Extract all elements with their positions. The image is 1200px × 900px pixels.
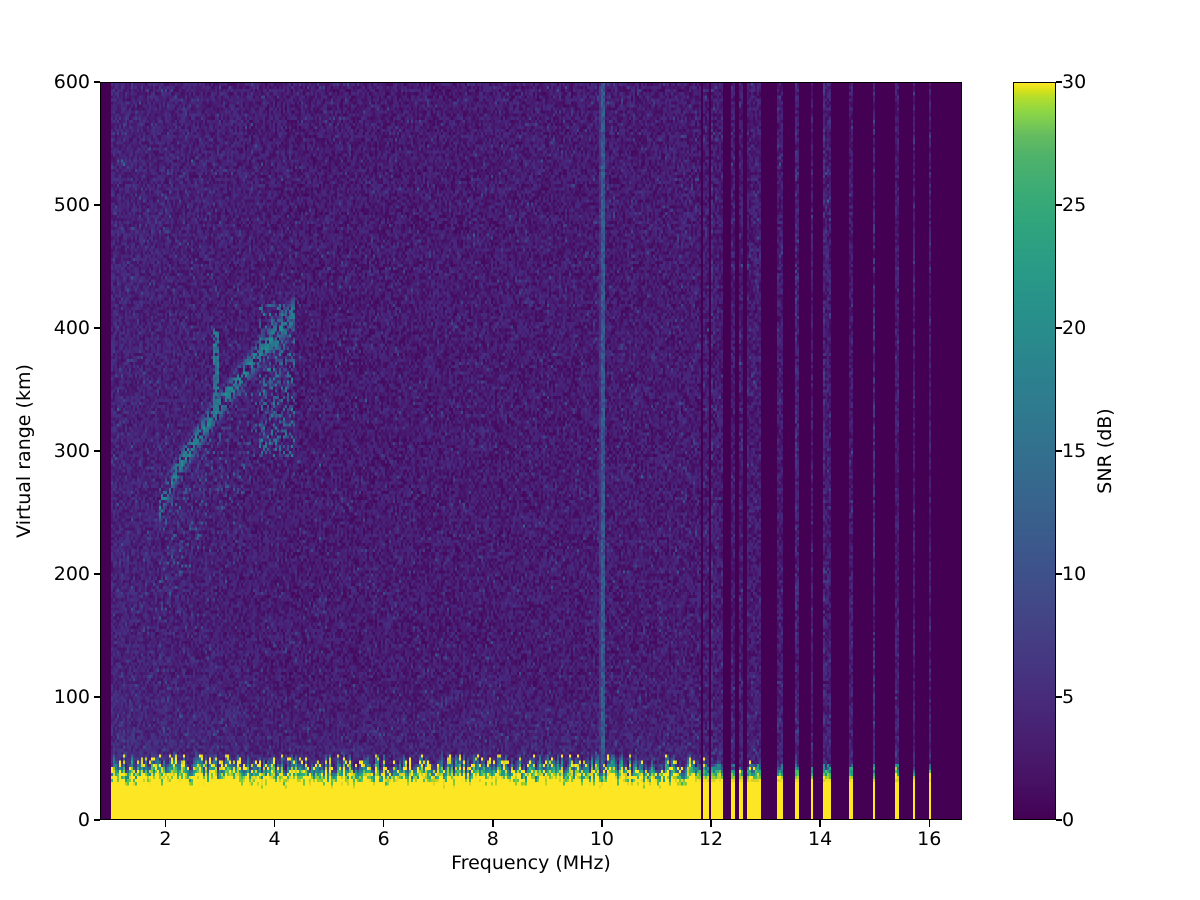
y-axis-tick-label: 200	[54, 563, 90, 585]
colorbar-tick-label: 25	[1062, 194, 1086, 216]
colorbar-tick-mark	[1056, 327, 1062, 328]
y-axis-tick-label: 500	[54, 194, 90, 216]
y-axis-tick-mark	[94, 204, 101, 205]
colorbar-tick-mark	[1056, 573, 1062, 574]
x-axis-tick-mark	[929, 820, 930, 827]
colorbar-tick-mark	[1056, 696, 1062, 697]
colorbar-tick-label: 30	[1062, 71, 1086, 93]
colorbar-tick-mark	[1056, 819, 1062, 820]
colorbar-tick-label: 10	[1062, 563, 1086, 585]
x-axis-tick-mark	[383, 820, 384, 827]
y-axis-label: Virtual range (km)	[13, 364, 35, 538]
colorbar-tick-label: 15	[1062, 440, 1086, 462]
colorbar-tick-mark	[1056, 450, 1062, 451]
y-axis-tick-mark	[94, 696, 101, 697]
ionogram-heatmap	[101, 83, 961, 819]
y-axis-tick-label: 300	[54, 440, 90, 462]
y-axis-tick-mark	[94, 819, 101, 820]
y-axis-tick-mark	[94, 81, 101, 82]
ionogram-canvas	[101, 83, 961, 819]
colorbar-tick-label: 20	[1062, 317, 1086, 339]
y-axis-tick-label: 0	[78, 809, 90, 831]
x-axis-tick-label: 16	[917, 828, 941, 850]
colorbar-tick-label: 0	[1062, 809, 1074, 831]
x-axis-label: Frequency (MHz)	[100, 852, 962, 874]
y-axis-tick-label: 600	[54, 71, 90, 93]
x-axis-tick-label: 8	[487, 828, 499, 850]
ionogram-plot-area	[100, 82, 962, 820]
y-axis-tick-label: 400	[54, 317, 90, 339]
colorbar-tick-label: 5	[1062, 686, 1074, 708]
x-axis-tick-mark	[492, 820, 493, 827]
colorbar-label: SNR (dB)	[1094, 408, 1116, 493]
x-axis-tick-label: 10	[590, 828, 614, 850]
colorbar-label-wrap: SNR (dB)	[1105, 82, 1107, 820]
colorbar-tick-mark	[1056, 81, 1062, 82]
y-axis-tick-mark	[94, 573, 101, 574]
x-axis-tick-label: 12	[699, 828, 723, 850]
x-axis-tick-label: 4	[269, 828, 281, 850]
y-axis-tick-mark	[94, 450, 101, 451]
x-axis-tick-mark	[274, 820, 275, 827]
x-axis-tick-mark	[601, 820, 602, 827]
colorbar-tick-mark	[1056, 204, 1062, 205]
colorbar	[1013, 82, 1056, 820]
x-axis-tick-mark	[165, 820, 166, 827]
x-axis-tick-label: 14	[808, 828, 832, 850]
x-axis-tick-label: 2	[159, 828, 171, 850]
y-axis-tick-mark	[94, 327, 101, 328]
y-axis-tick-label: 100	[54, 686, 90, 708]
x-axis-tick-label: 6	[378, 828, 390, 850]
x-axis-tick-mark	[819, 820, 820, 827]
y-axis-label-wrap: Virtual range (km)	[26, 82, 28, 820]
x-axis-tick-mark	[710, 820, 711, 827]
